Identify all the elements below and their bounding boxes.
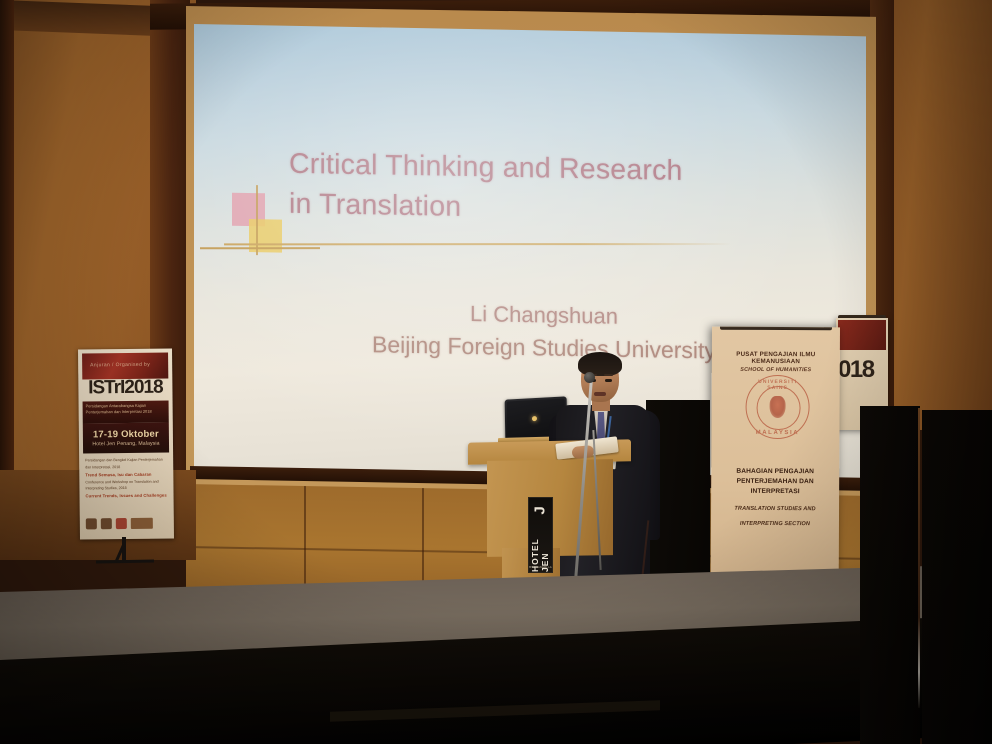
usm-seal-crest-icon [770,396,786,418]
banner-right-rail [720,327,832,331]
banner-left-venue: Hotel Jen Penang, Malaysia [92,441,159,448]
stage-wing-gap [918,408,920,708]
section-ms-line-2: PENTERJEMAHAN DAN INTERPRETASI [717,477,833,498]
conference-photo-scene: Critical Thinking and Research in Transl… [0,0,992,744]
banner-back-text: 018 [838,356,886,384]
stage-wing-dark-far-right [922,410,992,744]
banner-left-date-band: 17-19 Oktober Hotel Jen Penang, Malaysia [83,423,169,454]
slide-title-underline-left [200,247,320,249]
banner-right-header-en: SCHOOL OF HUMANITIES [712,367,840,374]
banner-left-theme-en: Current Trends, Issues and Challenges [86,492,168,501]
podium-hotel-jen-plate: J HOTEL JEN BY SHANGRI-LA [528,497,553,573]
speaker-hair [578,352,622,376]
section-en-line-1: TRANSLATION STUDIES AND [717,504,833,513]
sponsor-logo-icon [86,518,97,529]
banner-left-body: Persidangan dan Bengkel Kajian Penterjem… [83,455,169,503]
sponsor-logo-icon [101,518,112,529]
speaker-eye-right [605,379,612,382]
microphone-head-icon [584,372,595,383]
speaker-eyebrow-right [604,374,613,376]
banner-right-section-text: BAHAGIAN PENGAJIAN PENTERJEMAHAN DAN INT… [711,467,839,530]
hotel-jen-plate-subtext: BY SHANGRI-LA [529,566,552,569]
stage-wing-dark-right [860,406,920,744]
banner-left-date: 17-19 Oktober [93,429,159,441]
hotel-jen-plate-text: HOTEL JEN [531,520,551,572]
slide-title-line-2: in Translation [289,184,789,234]
banner-right-header: PUSAT PENGAJIAN ILMU KEMANUSIAAN SCHOOL … [712,351,840,374]
sponsor-logo-icon [116,517,127,528]
banner-left-photo-caption: Anjuran / Organised by [90,362,150,369]
banner-left-tagline: Persidangan Antarabangsa Kajian Penterje… [83,401,169,424]
banner-back-photo-strip [838,320,886,350]
sponsor-logo-icon [131,517,153,528]
slide-title-underline [224,243,732,245]
banner-left-body-line-1: Persidangan dan Bengkel Kajian Penterjem… [85,457,167,472]
section-en-line-2: INTERPRETING SECTION [717,520,833,529]
banner-left-logo: ISTrI2018 [81,375,169,402]
hotel-jen-j-logo-icon: J [533,506,548,514]
banner-istri-left: Anjuran / Organised by ISTrI2018 Persida… [78,349,174,540]
slide-title: Critical Thinking and Research in Transl… [289,144,789,234]
banner-left-body-line-2: Conference and Workshop on Translation a… [85,478,167,493]
usm-seal-icon: UNIVERSITI SAINS MALAYSIA [745,375,809,439]
speaker-mouth [594,392,606,396]
banner-left-tripod-foot [96,559,154,563]
usm-seal-bottom-text: MALAYSIA [746,430,808,436]
banner-left-sponsor-logos [86,516,168,531]
banner-right-header-ms: PUSAT PENGAJIAN ILMU KEMANUSIAAN [712,351,840,366]
wall-left-edge [0,0,14,470]
section-ms-line-1: BAHAGIAN PENGAJIAN [717,467,833,478]
